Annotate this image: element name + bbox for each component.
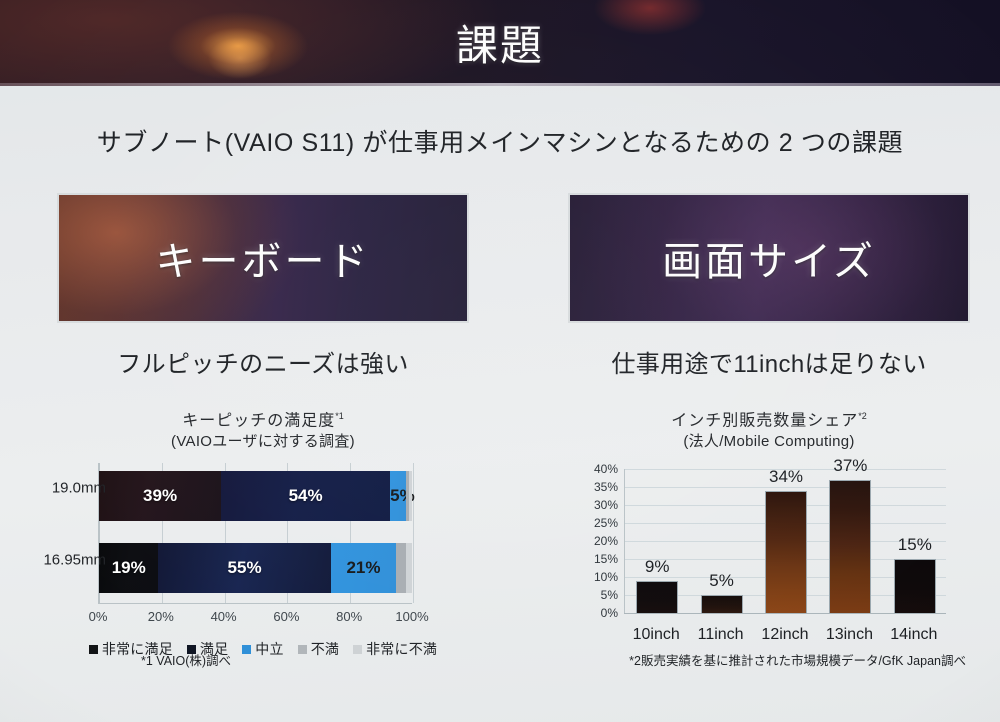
column-bar-value-label: 34% xyxy=(769,467,803,487)
right-chart-y-tick-label: 10% xyxy=(594,570,618,584)
right-chart-title-footnote-marker: *2 xyxy=(858,411,867,421)
left-chart-x-axis: 0%20%40%60%80%100% xyxy=(98,603,412,604)
keyboard-caption: フルピッチのニーズは強い xyxy=(57,344,469,379)
left-chart-legend: 非常に満足満足中立不満非常に不満 xyxy=(57,639,469,659)
footnote-right: *2販売実績を基に推計された市場規模データ/GfK Japan調べ xyxy=(629,650,966,669)
screen-size-topic-panel: 画面サイズ xyxy=(568,193,970,323)
stacked-bar-segment-value: 55% xyxy=(158,558,330,578)
stacked-bar-segment-4 xyxy=(396,543,405,593)
column-bar: 15% xyxy=(894,559,936,613)
left-chart-x-tick-label: 20% xyxy=(148,609,174,624)
legend-swatch-icon xyxy=(89,645,98,654)
column-bar-value-label: 15% xyxy=(898,535,932,555)
right-chart-y-tick-label: 40% xyxy=(594,462,618,476)
right-chart-x-axis: 10inch11inch12inch13inch14inch xyxy=(624,613,946,614)
keyboard-topic-label: キーボード xyxy=(156,229,371,287)
right-chart-x-tick-label: 14inch xyxy=(890,626,937,644)
stacked-bar-row: 19%55%21% xyxy=(99,543,412,593)
left-chart-x-tick-label: 40% xyxy=(211,609,237,624)
stacked-bar-segment-value: 39% xyxy=(99,486,221,506)
right-chart-title-text: インチ別販売数量シェア xyxy=(671,412,858,429)
right-chart-y-tick-label: 15% xyxy=(594,552,618,566)
legend-label: 非常に不満 xyxy=(366,639,437,659)
column-bar: 9% xyxy=(636,581,678,613)
right-column: 画面サイズ 仕事用途で11inchは足りない インチ別販売数量シェア*2 (法人… xyxy=(568,193,970,671)
keyboard-topic-panel: キーボード xyxy=(57,193,469,323)
stacked-bar-segment-1: 19% xyxy=(99,543,158,593)
legend-swatch-icon xyxy=(353,645,362,654)
left-chart-x-tick-label: 60% xyxy=(273,609,299,624)
stacked-bar-segment-3: 21% xyxy=(331,543,397,593)
right-chart-gridline xyxy=(625,487,946,488)
left-chart-x-tick-label: 0% xyxy=(89,609,108,624)
left-chart-x-tick-label: 100% xyxy=(395,609,428,624)
right-chart-x-tick-label: 13inch xyxy=(826,626,873,644)
stacked-bar-segment-value: 19% xyxy=(99,558,158,578)
legend-item[interactable]: 不満 xyxy=(298,639,339,659)
stacked-bar-segment-1: 39% xyxy=(99,471,221,521)
column-bar-value-label: 37% xyxy=(833,456,867,476)
left-chart-x-tick-label: 80% xyxy=(336,609,362,624)
left-chart-gridline xyxy=(413,463,414,603)
right-chart-plot-area: 0%5%10%15%20%25%30%35%40%9%5%34%37%15% xyxy=(624,469,946,613)
right-chart-y-tick-label: 0% xyxy=(601,606,618,620)
left-chart-subtitle: (VAIOユーザに対する調査) xyxy=(57,432,469,452)
column-bar: 5% xyxy=(701,595,743,613)
left-chart-title: キーピッチの満足度*1 xyxy=(57,410,469,432)
stacked-bar-category-label: 16.95mm xyxy=(0,552,106,569)
stacked-bar-segment-2: 55% xyxy=(158,543,330,593)
column-bar-value-label: 5% xyxy=(709,571,734,591)
page-title: 課題 xyxy=(0,12,1000,73)
screen-size-caption: 仕事用途で11inchは足りない xyxy=(568,344,970,379)
column-bar-value-label: 9% xyxy=(645,557,670,577)
right-chart-y-tick-label: 5% xyxy=(601,588,618,602)
legend-label: 中立 xyxy=(255,639,283,659)
stacked-bar-segment-value: 54% xyxy=(221,486,390,506)
stacked-bar-segment-value: 21% xyxy=(331,558,397,578)
left-chart-title-text: キーピッチの満足度 xyxy=(182,412,335,429)
right-chart-y-tick-label: 30% xyxy=(594,498,618,512)
slide-canvas: 課題 サブノート(VAIO S11) が仕事用メインマシンとなるための 2 つの… xyxy=(0,0,1000,722)
inch-share-column-chart: 0%5%10%15%20%25%30%35%40%9%5%34%37%15% 1… xyxy=(568,463,970,671)
satisfaction-stacked-bar-chart: 39%54%5%19.0mm19%55%21%16.95mm 0%20%40%6… xyxy=(57,463,469,671)
stacked-bar-segment-5 xyxy=(406,543,412,593)
left-chart-plot-area: 39%54%5%19.0mm19%55%21%16.95mm xyxy=(98,463,412,603)
right-chart-title: インチ別販売数量シェア*2 xyxy=(568,410,970,432)
left-chart-title-footnote-marker: *1 xyxy=(335,411,344,421)
screen-size-topic-label: 画面サイズ xyxy=(662,229,876,287)
left-column: キーボード フルピッチのニーズは強い キーピッチの満足度*1 (VAIOユーザに… xyxy=(57,193,469,671)
legend-item[interactable]: 中立 xyxy=(242,639,283,659)
stacked-bar-segment-3: 5% xyxy=(390,471,406,521)
column-bar: 34% xyxy=(765,491,807,613)
stacked-bar-category-label: 19.0mm xyxy=(0,480,106,497)
right-chart-subtitle: (法人/Mobile Computing) xyxy=(568,432,970,452)
stacked-bar-segment-2: 54% xyxy=(221,471,390,521)
footnote-left: *1 VAIO(株)調べ xyxy=(141,650,231,669)
legend-label: 不満 xyxy=(311,639,339,659)
slide-subtitle: サブノート(VAIO S11) が仕事用メインマシンとなるための 2 つの課題 xyxy=(0,123,1000,159)
right-chart-x-tick-label: 10inch xyxy=(633,626,680,644)
right-chart-x-tick-label: 12inch xyxy=(761,626,808,644)
stacked-bar-row: 39%54%5% xyxy=(99,471,412,521)
legend-item[interactable]: 非常に不満 xyxy=(353,639,437,659)
right-chart-y-tick-label: 35% xyxy=(594,480,618,494)
column-bar: 37% xyxy=(829,480,871,613)
stacked-bar-segment-value: 5% xyxy=(390,486,406,506)
right-chart-y-tick-label: 20% xyxy=(594,534,618,548)
stacked-bar-segment-5 xyxy=(409,471,412,521)
legend-swatch-icon xyxy=(242,645,251,654)
right-chart-x-tick-label: 11inch xyxy=(698,626,744,644)
legend-swatch-icon xyxy=(298,645,307,654)
right-chart-y-tick-label: 25% xyxy=(594,516,618,530)
